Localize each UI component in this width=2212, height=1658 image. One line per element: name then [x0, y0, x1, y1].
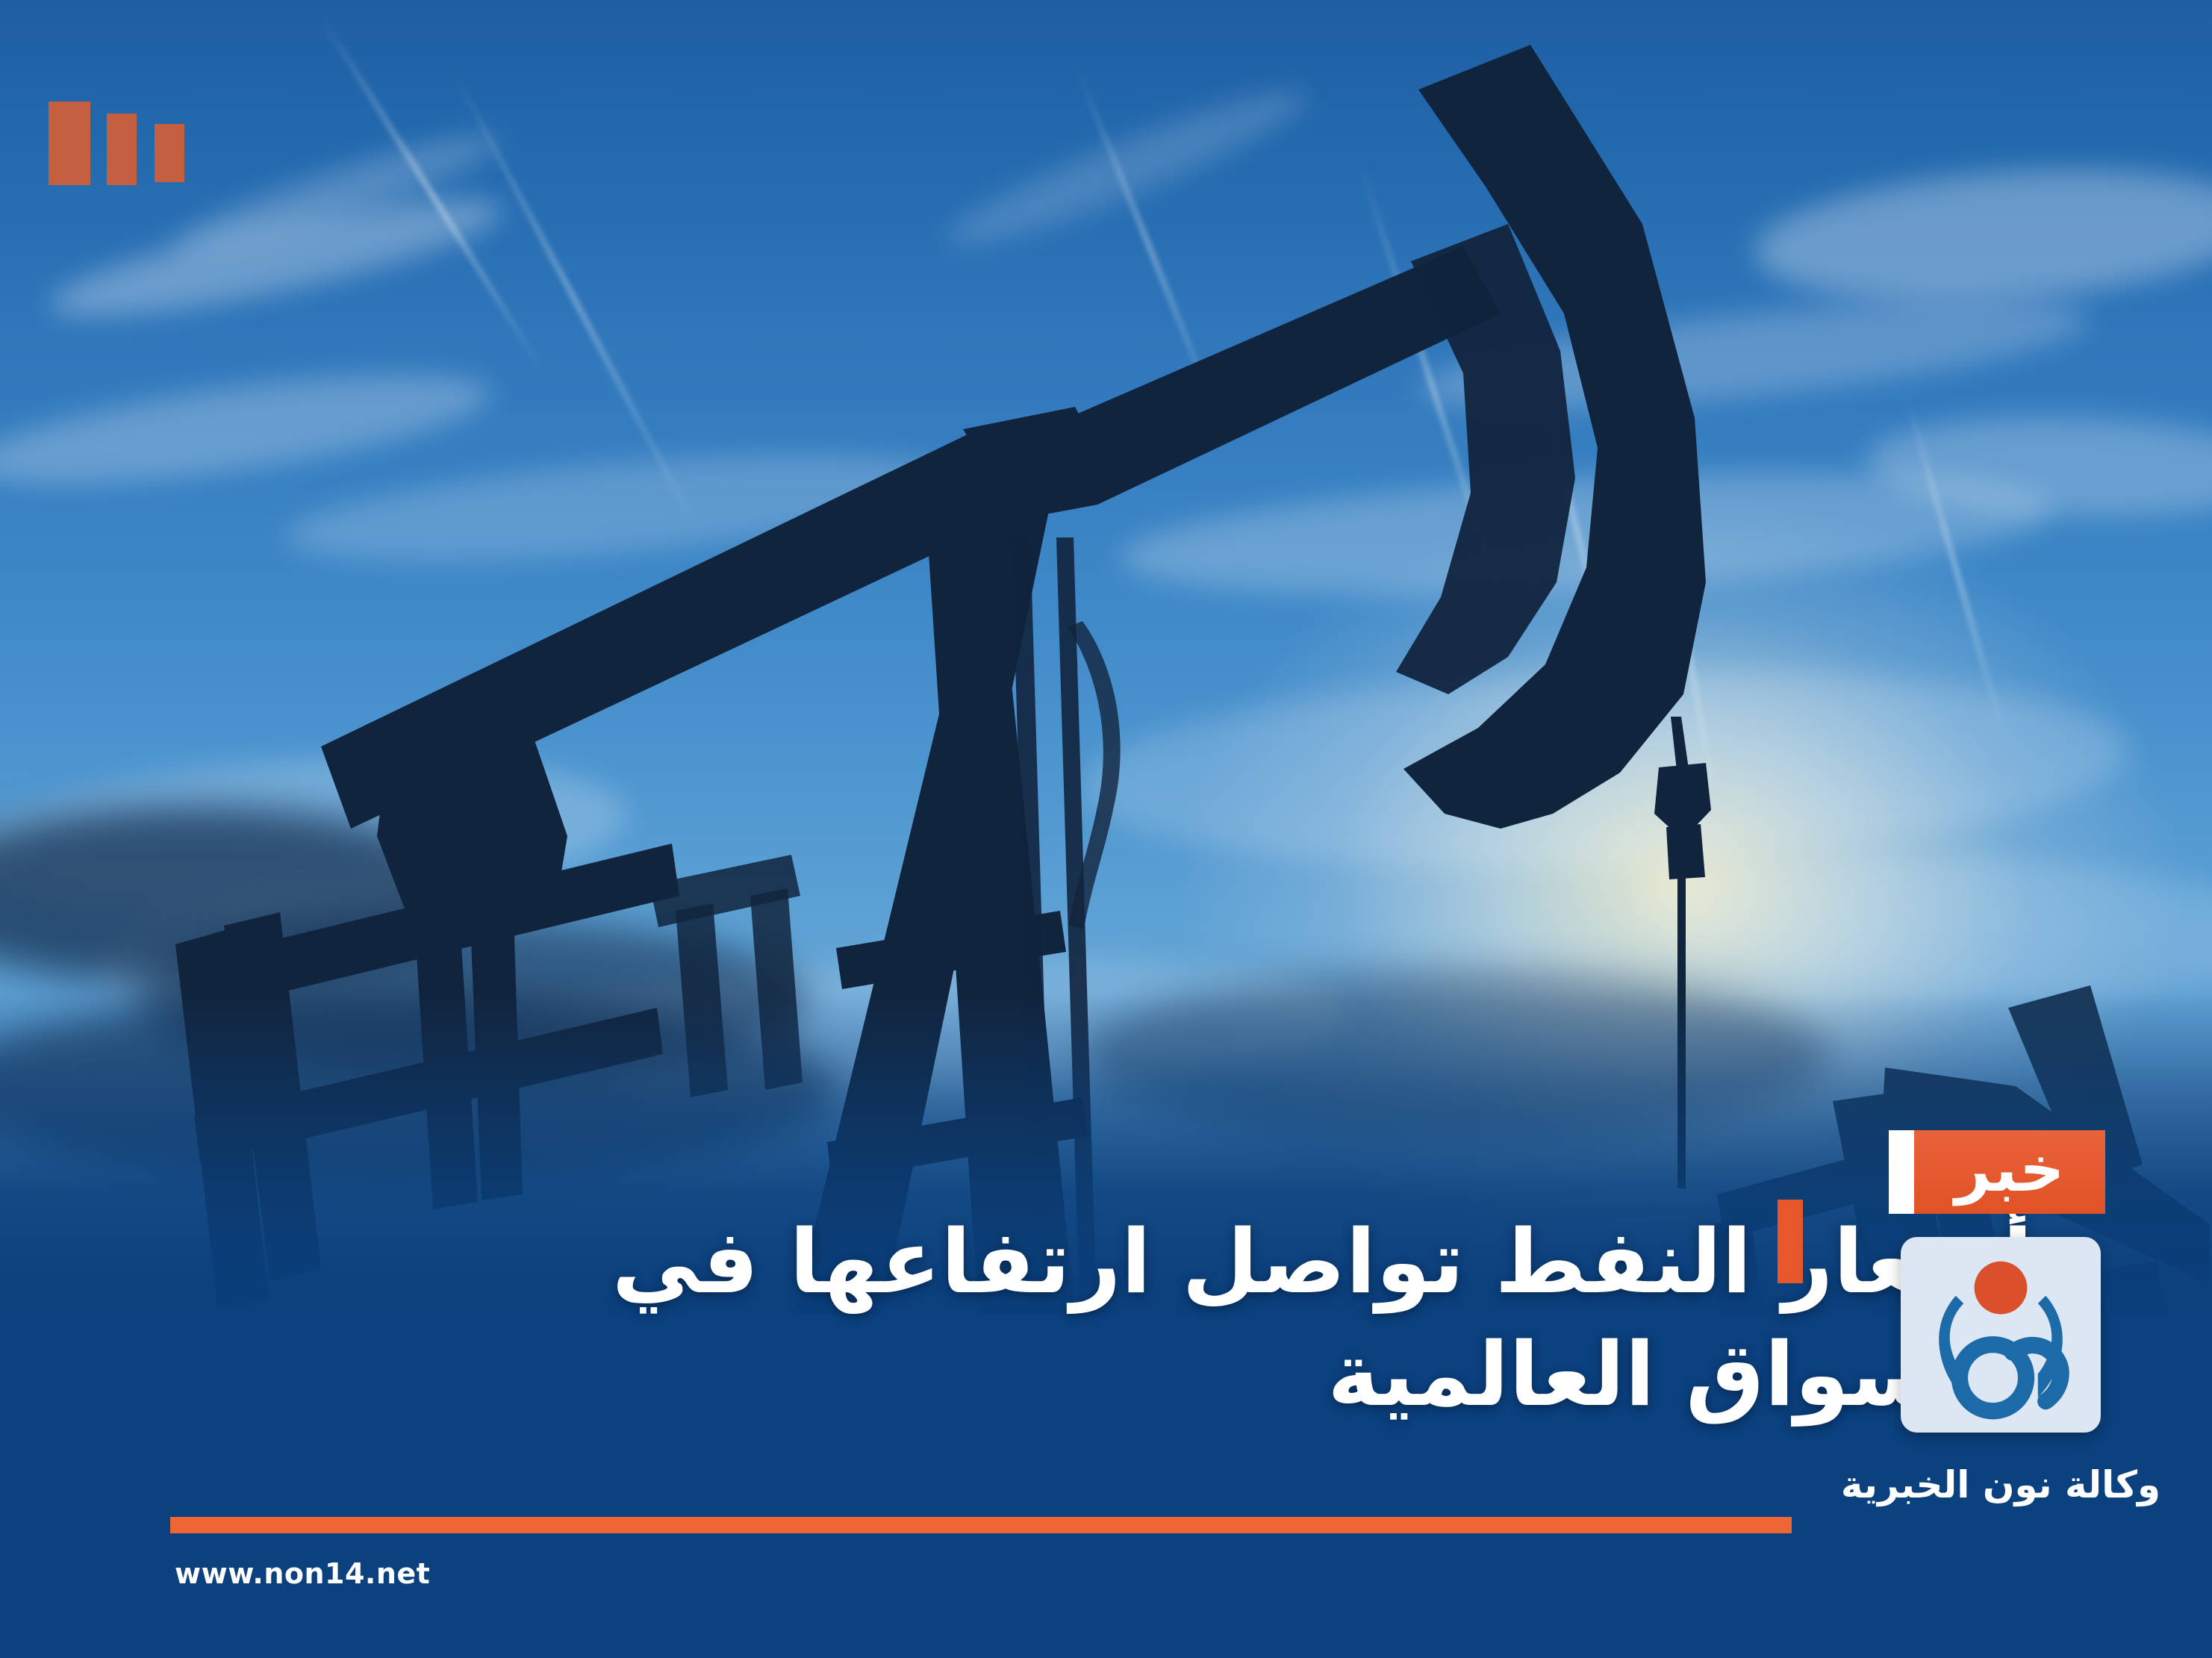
- three-descending-bars-icon: [0, 0, 239, 209]
- bar-2: [107, 113, 137, 185]
- orange-divider: [170, 1517, 1792, 1533]
- agency-logo-tile: [1901, 1237, 2101, 1433]
- headline-text: أسعار النفط تواصل ارتفاعها في الأسواق ال…: [428, 1206, 2033, 1431]
- bar-3: [155, 124, 184, 182]
- agency-name: وكالة نون الخبرية: [1792, 1463, 2210, 1506]
- noon-figure-logo-icon: [1901, 1237, 2101, 1433]
- news-card: أسعار النفط تواصل ارتفاعها في الأسواق ال…: [0, 0, 2212, 1658]
- news-badge: خبر: [1889, 1130, 2105, 1214]
- news-badge-stripe: [1889, 1130, 1914, 1214]
- website-url[interactable]: www.non14.net: [175, 1557, 430, 1590]
- news-badge-label: خبر: [1914, 1130, 2105, 1214]
- bar-1: [49, 102, 90, 185]
